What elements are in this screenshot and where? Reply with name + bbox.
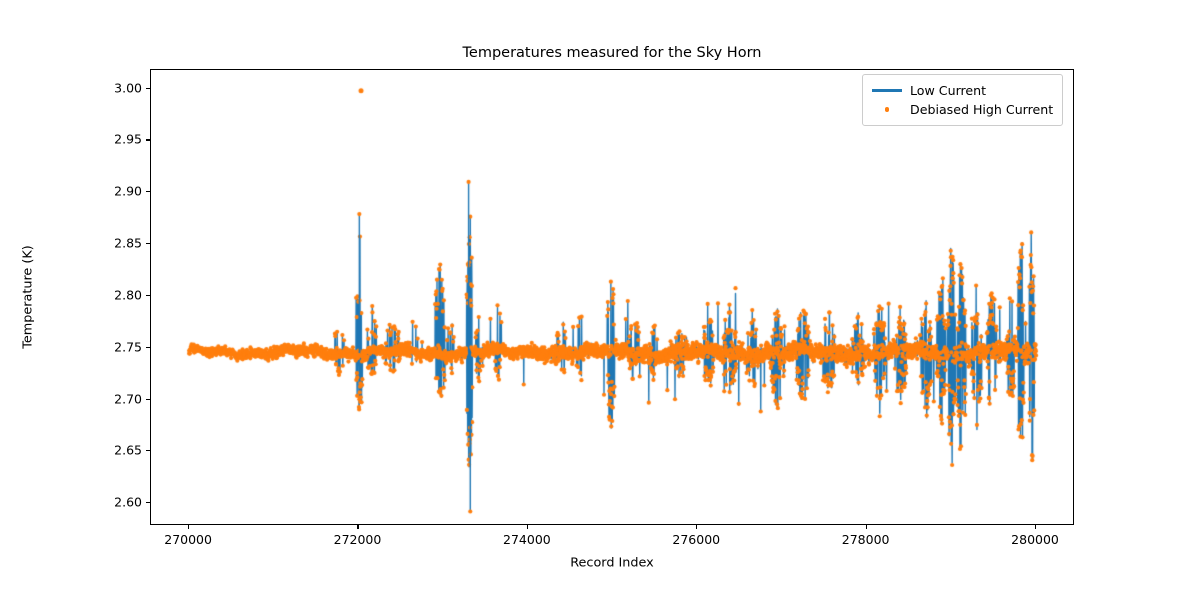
- x-tick-label: 272000: [334, 532, 382, 547]
- x-tick-label: 276000: [672, 532, 720, 547]
- x-tick-mark: [866, 525, 867, 529]
- x-tick-mark: [357, 525, 358, 529]
- y-tick-label: 2.75: [90, 339, 142, 354]
- y-tick-label: 2.70: [90, 391, 142, 406]
- x-tick-label: 280000: [1011, 532, 1059, 547]
- y-axis-label: Temperature (K): [21, 245, 36, 349]
- x-tick-label: 274000: [503, 532, 551, 547]
- y-tick-label: 2.80: [90, 287, 142, 302]
- plot-area: [150, 69, 1074, 525]
- x-tick-mark: [1035, 525, 1036, 529]
- y-tick-label: 2.95: [90, 132, 142, 147]
- x-tick-mark: [527, 525, 528, 529]
- legend-line-swatch: [870, 89, 904, 91]
- page-title: Temperatures measured for the Sky Horn: [150, 45, 1074, 61]
- series-canvas: [151, 70, 1074, 525]
- x-tick-label: 270000: [164, 532, 212, 547]
- legend-dot-swatch: [870, 107, 904, 111]
- legend-item-debiased-high-current[interactable]: Debiased High Current: [870, 100, 1053, 119]
- legend-label-low-current: Low Current: [910, 83, 986, 98]
- x-tick-label: 278000: [842, 532, 890, 547]
- y-tick-label: 2.65: [90, 443, 142, 458]
- y-tick-label: 2.85: [90, 236, 142, 251]
- legend[interactable]: Low Current Debiased High Current: [862, 74, 1063, 126]
- y-tick-label: 3.00: [90, 80, 142, 95]
- legend-item-low-current[interactable]: Low Current: [870, 81, 1053, 100]
- legend-label-debiased-high-current: Debiased High Current: [910, 102, 1053, 117]
- x-tick-mark: [188, 525, 189, 529]
- x-tick-mark: [696, 525, 697, 529]
- matplotlib-figure: Temperatures measured for the Sky Horn T…: [0, 0, 1200, 600]
- y-tick-label: 2.90: [90, 184, 142, 199]
- y-tick-label: 2.60: [90, 495, 142, 510]
- x-axis-label: Record Index: [570, 556, 654, 571]
